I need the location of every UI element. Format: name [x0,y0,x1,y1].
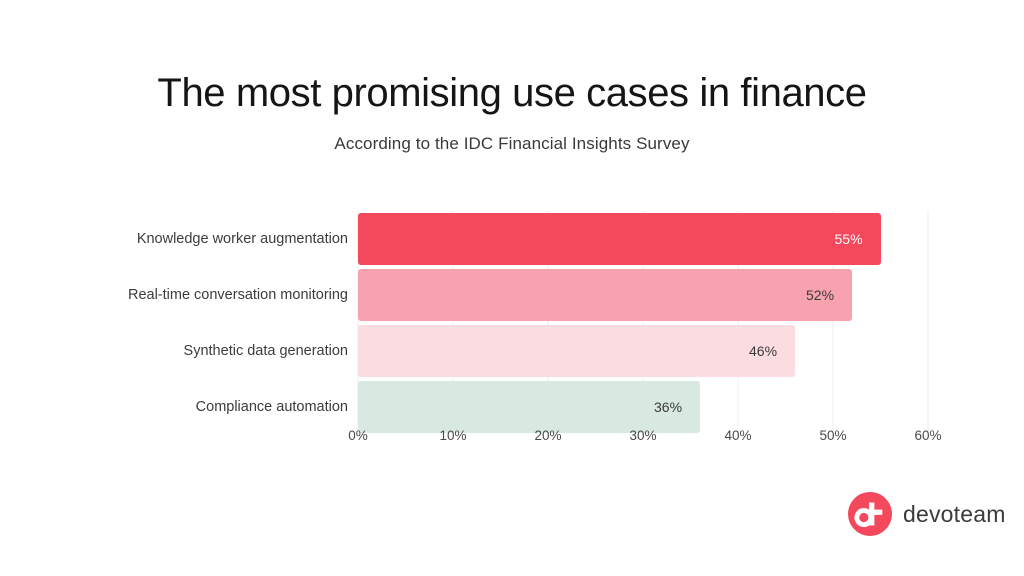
bar-row[interactable]: Compliance automation36% [0,381,1024,433]
bar-row[interactable]: Synthetic data generation46% [0,325,1024,377]
devoteam-wordmark: devoteam [903,503,1006,526]
x-axis-tick-label: 20% [534,428,561,443]
bar-series: Knowledge worker augmentation55%Real-tim… [0,213,1024,437]
bar-chart: Knowledge worker augmentation55%Real-tim… [0,0,1024,576]
x-axis-tick-label: 40% [724,428,751,443]
x-axis-tick-label: 60% [914,428,941,443]
bar-value-label: 36% [654,381,682,433]
x-axis-tick-label: 10% [439,428,466,443]
bar-category-label: Synthetic data generation [184,325,348,377]
bar[interactable] [358,269,852,321]
bar-row[interactable]: Real-time conversation monitoring52% [0,269,1024,321]
devoteam-logo: devoteam [848,492,1006,536]
bar-value-label: 46% [749,325,777,377]
devoteam-mark-icon [848,492,892,536]
bar-category-label: Real-time conversation monitoring [128,269,348,321]
x-axis: 0%10%20%30%40%50%60% [0,428,1024,450]
bar[interactable] [358,381,700,433]
slide-canvas: The most promising use cases in finance … [0,0,1024,576]
bar[interactable] [358,213,881,265]
x-axis-tick-label: 0% [348,428,368,443]
x-axis-tick-label: 50% [819,428,846,443]
bar-value-label: 52% [806,269,834,321]
x-axis-tick-label: 30% [629,428,656,443]
bar[interactable] [358,325,795,377]
bar-category-label: Compliance automation [196,381,348,433]
bar-category-label: Knowledge worker augmentation [137,213,348,265]
bar-row[interactable]: Knowledge worker augmentation55% [0,213,1024,265]
bar-value-label: 55% [835,213,863,265]
